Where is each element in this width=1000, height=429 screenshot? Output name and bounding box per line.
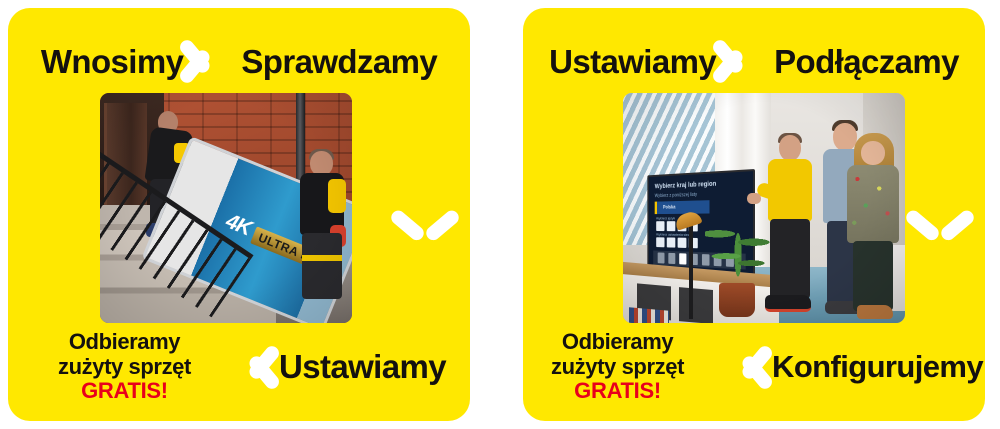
delivery-photo: 4K ULTRA HD xyxy=(100,93,352,323)
tv-box-badge-4k: 4K xyxy=(222,210,254,242)
panel-right-bottom-row: Odbieramy zużyty sprzęt GRATIS! Konfigur… xyxy=(523,330,985,404)
recycle-line-1: Odbieramy xyxy=(32,330,217,355)
potted-plant-pot xyxy=(719,283,755,317)
step-label-ustawiamy-2: Ustawiamy xyxy=(549,45,716,78)
recycle-line-2: zużyty sprzęt xyxy=(525,355,710,380)
panel-left-bottom-row: Odbieramy zużyty sprzęt GRATIS! Ustawiam… xyxy=(8,330,470,404)
worker-lower xyxy=(296,151,352,313)
tv-screen-option-2-label: Wybierz ustawienia sieci xyxy=(656,232,690,237)
tv-screen-title: Wybierz kraj lub region xyxy=(655,181,717,190)
recycle-line-2: zużyty sprzęt xyxy=(32,355,217,380)
chevron-left-icon xyxy=(721,336,761,398)
potted-plant-leaves xyxy=(705,217,771,287)
chevron-left-icon xyxy=(228,336,268,398)
shelf-books xyxy=(629,307,669,323)
step-label-ustawiamy: Ustawiamy xyxy=(279,350,446,383)
recycle-note-right: Odbieramy zużyty sprzęt GRATIS! xyxy=(525,330,710,404)
recycle-line-3-gratis: GRATIS! xyxy=(32,379,217,404)
chevron-right-icon xyxy=(192,30,232,92)
panel-right: Ustawiamy Podłączamy Wybierz kraj lub re… xyxy=(523,8,985,421)
recycle-line-1: Odbieramy xyxy=(525,330,710,355)
step-label-konfigurujemy: Konfigurujemy xyxy=(772,351,983,382)
installation-photo: Wybierz kraj lub region Wybierz z poniżs… xyxy=(623,93,905,323)
tv-screen-card-label: Polska xyxy=(663,205,675,211)
floor-lamp-stem xyxy=(689,221,693,319)
service-steps-banner: Wnosimy Sprawdzamy xyxy=(0,0,1000,429)
panel-right-top-row: Ustawiamy Podłączamy xyxy=(523,34,985,88)
recycle-line-3-gratis: GRATIS! xyxy=(525,379,710,404)
tv-screen-selected-card: Polska xyxy=(655,200,710,214)
panel-left: Wnosimy Sprawdzamy xyxy=(8,8,470,421)
step-label-wnosimy: Wnosimy xyxy=(41,45,183,78)
technician-figure xyxy=(763,135,817,313)
panel-left-top-row: Wnosimy Sprawdzamy xyxy=(8,34,470,88)
chevron-down-icon xyxy=(909,200,971,242)
step-label-podlaczamy: Podłączamy xyxy=(774,45,959,78)
chevron-right-icon xyxy=(725,30,765,92)
step-label-sprawdzamy: Sprawdzamy xyxy=(241,45,437,78)
tv-screen-option-1-label: Wybierz język xyxy=(656,216,675,221)
chevron-down-icon xyxy=(394,200,456,242)
tv-screen-option-row-2: Wybierz ustawienia sieci xyxy=(656,237,702,248)
recycle-note-left: Odbieramy zużyty sprzęt GRATIS! xyxy=(32,330,217,404)
tv-screen-subtitle: Wybierz z poniższej listy xyxy=(655,192,697,199)
customer-woman-figure xyxy=(845,137,901,323)
